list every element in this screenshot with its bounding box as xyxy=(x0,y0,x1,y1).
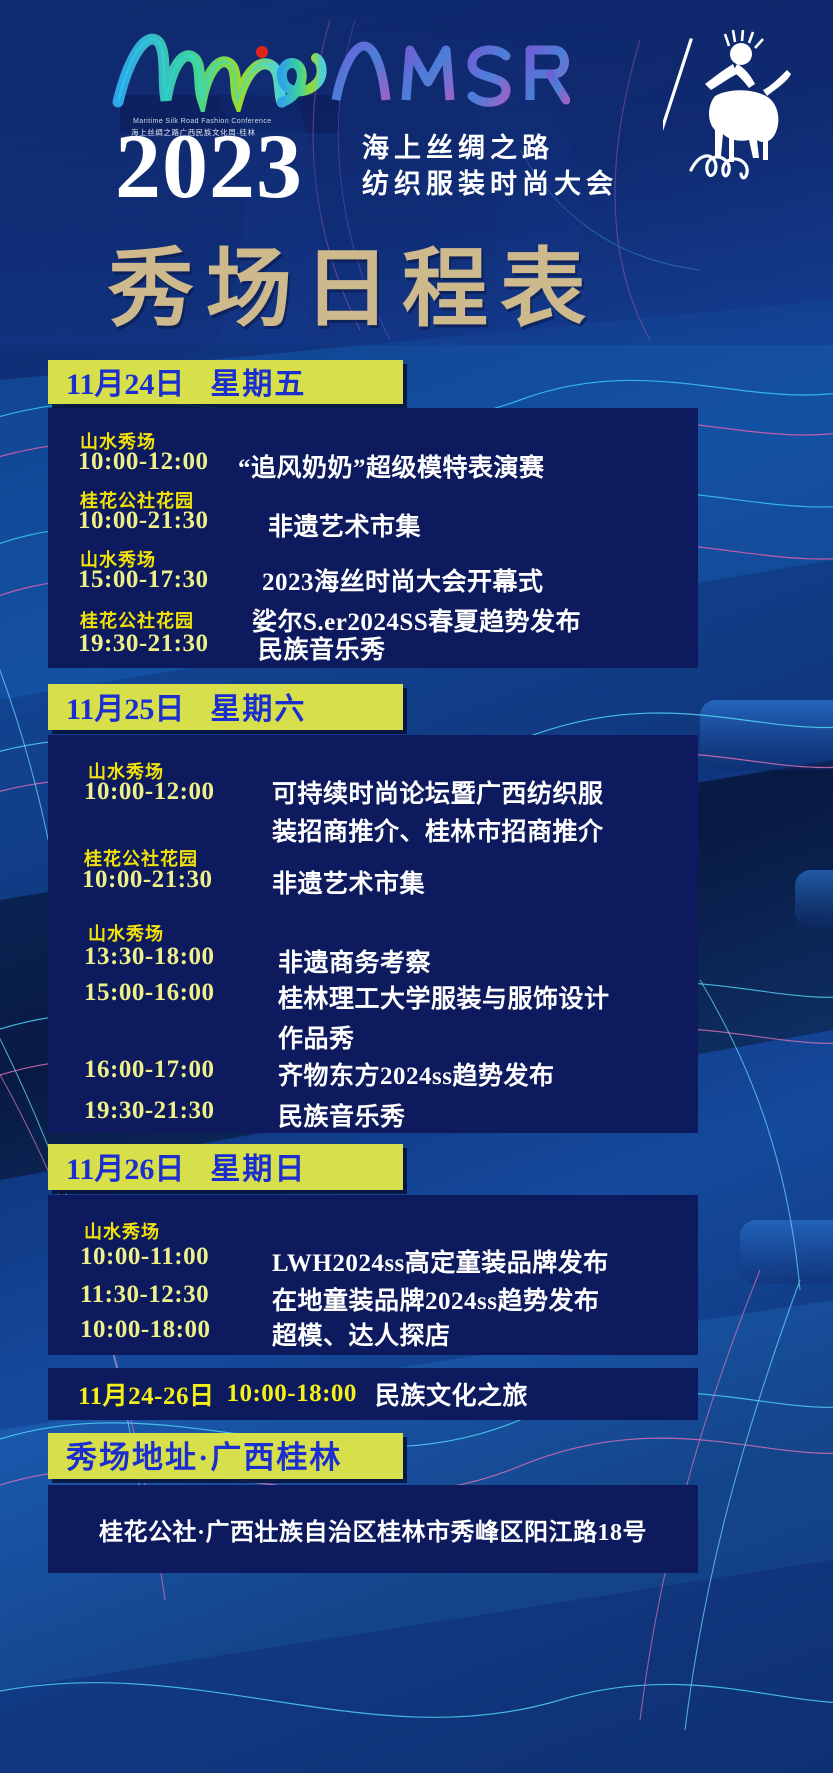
event-label: 可持续时尚论坛暨广西纺织服 xyxy=(272,774,604,810)
day-tab-1125[interactable]: 11月25日 星期六 xyxy=(48,684,403,730)
event-label: 作品秀 xyxy=(278,1019,355,1055)
day-3-date: 11月26日 xyxy=(66,1144,184,1188)
day-1-date: 11月24日 xyxy=(66,359,184,403)
event-label: LWH2024ss高定童装品牌发布 xyxy=(272,1243,609,1279)
event-label: 民族音乐秀 xyxy=(258,630,386,666)
address-tab[interactable]: 秀场地址·广西桂林 xyxy=(48,1433,403,1479)
event-label: “追风奶奶”超级模特表演赛 xyxy=(238,448,545,484)
time-label: 19:30-21:30 xyxy=(84,1097,214,1125)
event-label: 在地童装品牌2024ss趋势发布 xyxy=(272,1281,599,1317)
tour-date-range: 11月24-26日 xyxy=(78,1376,214,1412)
event-label: 装招商推介、桂林市招商推介 xyxy=(272,812,604,848)
day-2-date: 11月25日 xyxy=(66,684,184,728)
day-tab-1126[interactable]: 11月26日 星期日 xyxy=(48,1144,403,1190)
address-tab-label: 秀场地址·广西桂林 xyxy=(66,1432,342,1477)
time-label: 10:00-18:00 xyxy=(80,1316,210,1344)
event-label: 民族音乐秀 xyxy=(278,1097,406,1133)
day-3-weekday: 星期日 xyxy=(210,1144,306,1188)
time-label: 10:00-11:00 xyxy=(80,1243,209,1271)
day-tab-1124[interactable]: 11月24日 星期五 xyxy=(48,360,403,404)
time-label: 10:00-21:30 xyxy=(82,866,212,894)
culture-tour-bar: 11月24-26日 10:00-18:00 民族文化之旅 xyxy=(48,1368,698,1420)
time-label: 10:00-12:00 xyxy=(84,778,214,806)
event-label: 超模、达人探店 xyxy=(272,1316,451,1352)
event-label: 2023海丝时尚大会开幕式 xyxy=(262,562,544,598)
day-2-weekday: 星期六 xyxy=(210,684,306,728)
address-panel: 桂花公社·广西壮族自治区桂林市秀峰区阳江路18号 xyxy=(48,1485,698,1573)
event-label: 非遗艺术市集 xyxy=(268,507,421,543)
schedule-body: 11月24日 星期五 山水秀场 10:00-12:00 “追风奶奶”超级模特表演… xyxy=(0,0,833,1773)
time-label: 10:00-21:30 xyxy=(78,507,208,535)
time-label: 15:00-17:30 xyxy=(78,566,208,594)
time-label: 15:00-16:00 xyxy=(84,979,214,1007)
poster-root: Maritime Silk Road Fashion Conference 海上… xyxy=(0,0,833,1773)
event-label: 非遗商务考察 xyxy=(278,943,431,979)
tour-time: 10:00-18:00 xyxy=(226,1380,356,1408)
time-label: 16:00-17:00 xyxy=(84,1056,214,1084)
event-label: 非遗艺术市集 xyxy=(272,864,425,900)
time-label: 19:30-21:30 xyxy=(78,630,208,658)
event-label: 桂林理工大学服装与服饰设计 xyxy=(278,979,610,1015)
event-label: 齐物东方2024ss趋势发布 xyxy=(278,1056,554,1092)
time-label: 13:30-18:00 xyxy=(84,943,214,971)
tour-name: 民族文化之旅 xyxy=(375,1376,528,1412)
time-label: 11:30-12:30 xyxy=(80,1281,209,1309)
address-full-text: 桂花公社·广西壮族自治区桂林市秀峰区阳江路18号 xyxy=(99,1512,647,1547)
time-label: 10:00-12:00 xyxy=(78,448,208,476)
venue-label: 山水秀场 xyxy=(84,1218,160,1244)
day-1-weekday: 星期五 xyxy=(210,359,306,403)
